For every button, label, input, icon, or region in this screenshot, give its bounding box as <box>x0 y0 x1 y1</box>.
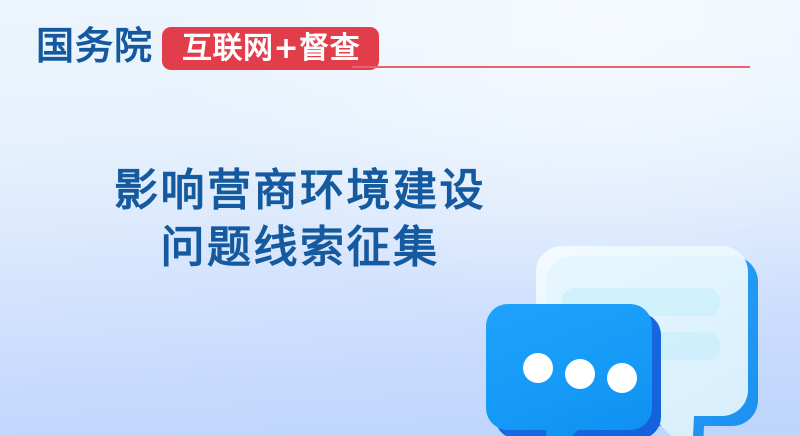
banner-header: 国务院 互联网+督查 <box>0 0 800 96</box>
promo-banner: 国务院 互联网+督查 影响营商环境建设 问题线索征集 <box>0 0 800 436</box>
header-divider-line <box>352 66 750 68</box>
typing-dot-3 <box>607 363 637 393</box>
page-title-line-1: 影响营商环境建设 <box>60 162 540 219</box>
program-badge-label: 互联网+督查 <box>182 34 360 64</box>
page-title-line-2: 问题线索征集 <box>60 219 540 276</box>
typing-dot-2 <box>565 359 595 389</box>
gov-logo-text: 国务院 <box>36 24 153 68</box>
typing-dot-1 <box>523 353 553 383</box>
program-badge: 互联网+督查 <box>162 27 379 70</box>
page-title: 影响营商环境建设 问题线索征集 <box>60 162 540 276</box>
